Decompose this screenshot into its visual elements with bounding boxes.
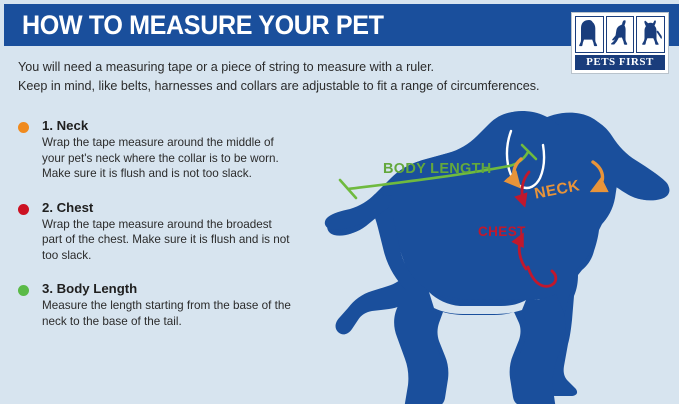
dog-sitting-icon (606, 16, 635, 53)
brand-logo: PETS FIRST (571, 12, 669, 74)
step-title-neck: 1. Neck (42, 118, 293, 134)
step-body-neck: Wrap the tape measure around the middle … (42, 135, 293, 182)
step-item-neck: 1. Neck Wrap the tape measure around the… (18, 118, 293, 182)
label-body-length: BODY LENGTH (383, 161, 492, 177)
dog-measurement-illustration (296, 104, 679, 404)
dog-standing-icon (575, 16, 604, 53)
logo-wordmark: PETS FIRST (575, 55, 665, 70)
measurement-steps-list: 1. Neck Wrap the tape measure around the… (18, 118, 293, 347)
step-dot-chest (18, 204, 29, 215)
step-item-body-length: 3. Body Length Measure the length starti… (18, 281, 293, 329)
step-title-body-length: 3. Body Length (42, 281, 293, 297)
step-body-body-length: Measure the length starting from the bas… (42, 298, 293, 329)
step-dot-body-length (18, 285, 29, 296)
how-to-measure-your-pet-infographic: HOW TO MEASURE YOUR PET (0, 0, 679, 404)
step-item-chest: 2. Chest Wrap the tape measure around th… (18, 200, 293, 264)
step-dot-neck (18, 122, 29, 133)
intro-line-1: You will need a measuring tape or a piec… (18, 58, 578, 77)
intro-text: You will need a measuring tape or a piec… (18, 58, 578, 96)
label-chest: CHEST (478, 224, 526, 239)
page-title: HOW TO MEASURE YOUR PET (22, 11, 384, 39)
logo-frames (575, 16, 665, 53)
step-body-chest: Wrap the tape measure around the broades… (42, 217, 293, 264)
dog-sitting-alt-icon (636, 16, 665, 53)
intro-line-2: Keep in mind, like belts, harnesses and … (18, 77, 578, 96)
step-title-chest: 2. Chest (42, 200, 293, 216)
